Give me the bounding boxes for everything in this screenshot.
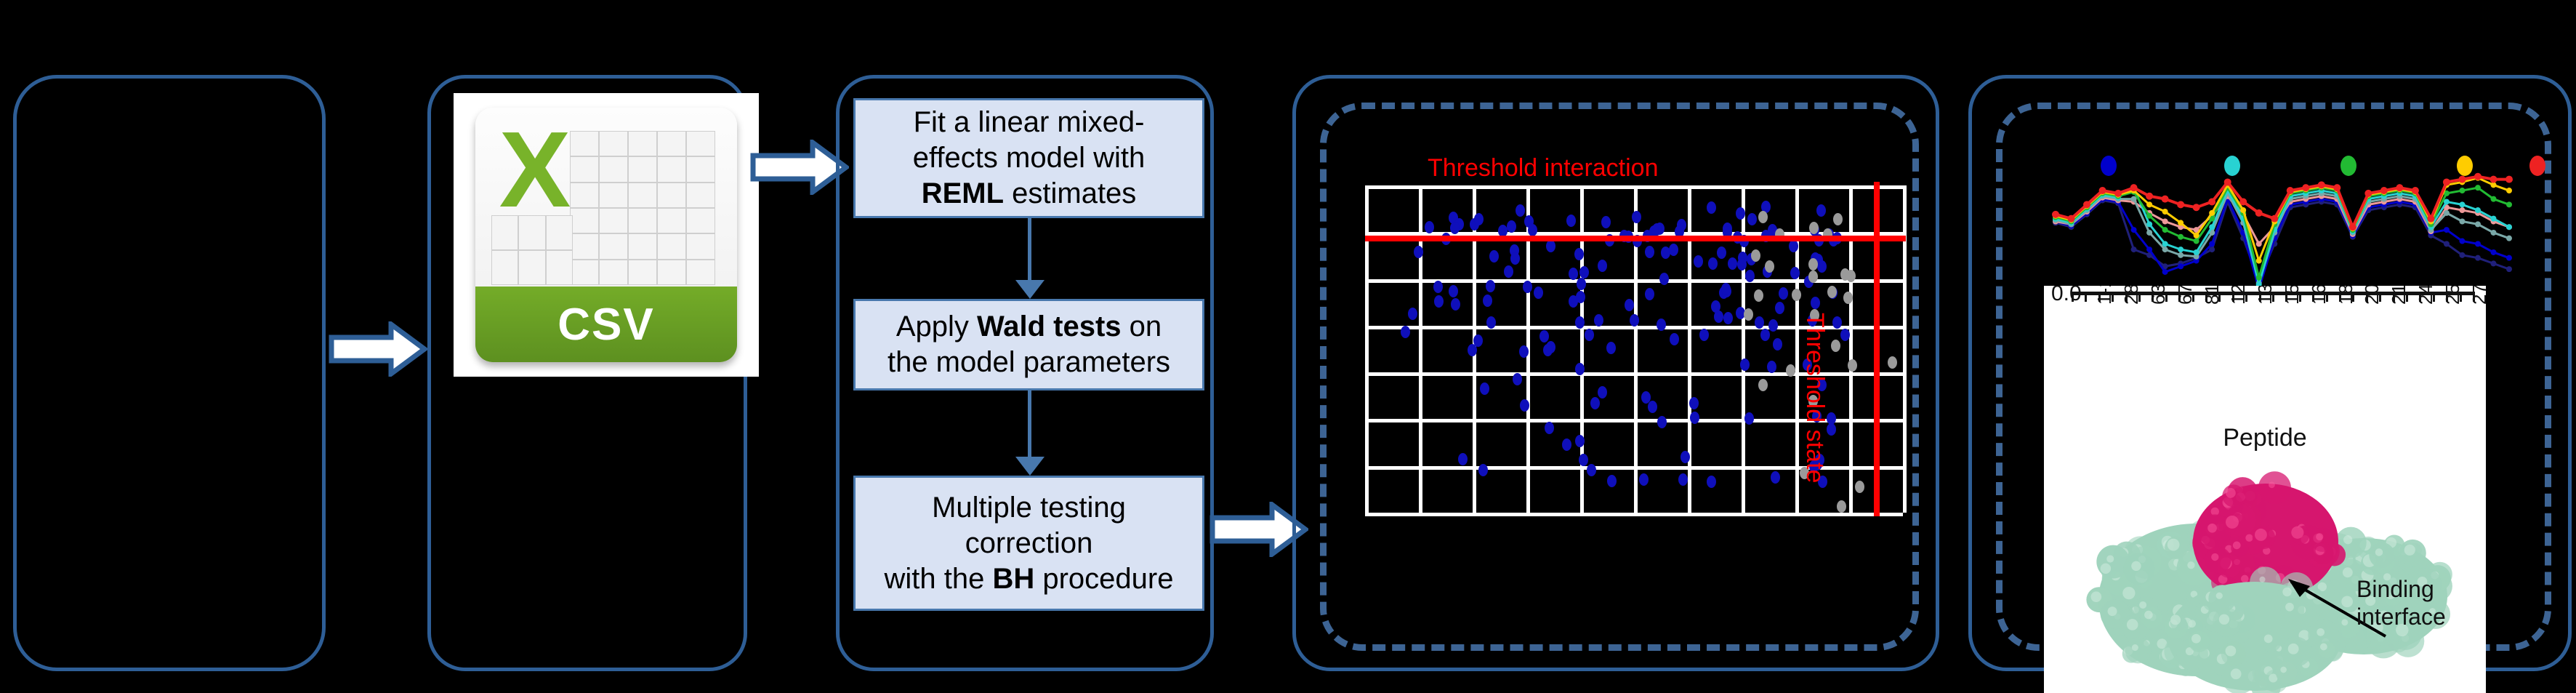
peptide-series-marker — [2333, 184, 2340, 191]
scatter-point-significant — [1669, 244, 1678, 256]
peptide-series-marker — [2162, 269, 2168, 275]
peptide-tick-label: 135-144 — [2254, 286, 2277, 305]
peptide-series-marker — [2412, 187, 2419, 194]
peptide-series-marker — [2302, 184, 2309, 191]
legend-dot — [2529, 156, 2545, 176]
csv-grid-cell — [599, 208, 628, 233]
csv-grid-cell — [628, 183, 657, 208]
peptide-series-marker — [2256, 241, 2262, 247]
scatter-point-significant — [1670, 333, 1679, 345]
peptide-tick-label: 241-257 — [2415, 286, 2437, 305]
scatter-point-significant — [1645, 246, 1654, 258]
scatter-point-significant — [1745, 270, 1755, 282]
csv-grid-cell — [570, 233, 599, 259]
scatter-point-nonsignificant — [1765, 260, 1774, 273]
flow3-pre: with the — [885, 563, 993, 595]
flow2-line2: the model parameters — [887, 346, 1170, 378]
peptide-series-marker — [2146, 221, 2152, 227]
scatter-point-nonsignificant — [1809, 222, 1819, 234]
legend-dot — [2101, 156, 2117, 176]
peptide-series-marker — [2506, 224, 2512, 230]
scatter-point-significant — [1513, 373, 1522, 385]
scatter-point-significant — [1474, 213, 1484, 225]
peptide-series-marker — [2239, 198, 2247, 205]
csv-file-icon: X CSV — [454, 93, 759, 377]
csv-format-label: CSV — [475, 287, 737, 362]
scatter-point-significant — [1744, 412, 1754, 425]
scatter-point-significant — [1641, 391, 1651, 404]
peptide-series-marker — [2505, 176, 2513, 183]
peptide-series-marker — [2459, 188, 2465, 193]
legend-dot — [2457, 156, 2473, 176]
csv-grid-cell — [657, 208, 686, 233]
csv-grid-cell — [518, 250, 545, 285]
csv-grid-cell — [686, 156, 715, 182]
flow3-line1: Multiple testing — [932, 492, 1126, 524]
step-box-reml: Fit a linear mixed- effects model with R… — [853, 98, 1204, 218]
peptide-series-marker — [2396, 184, 2403, 191]
csv-grid-cell — [686, 131, 715, 156]
peptide-series-marker — [2131, 247, 2137, 252]
peptide-series-marker — [2052, 211, 2059, 218]
peptide-series-marker — [2068, 215, 2075, 223]
scatter-point-significant — [1768, 319, 1778, 332]
scatter-point-significant — [1575, 316, 1585, 329]
peptide-series-marker — [2506, 266, 2512, 272]
peptide-tick-label: 200-214 — [2361, 286, 2383, 305]
scatter-point-nonsignificant — [1837, 500, 1846, 513]
flow-arrow-1 — [329, 321, 427, 377]
threshold-state-line — [1874, 182, 1880, 516]
scatter-point-significant — [1594, 314, 1603, 327]
scatter-point-significant — [1755, 316, 1764, 329]
scatter-point-significant — [1699, 329, 1709, 341]
peptide-series-marker — [2475, 207, 2481, 213]
scatter-point-significant — [1775, 302, 1784, 314]
scatter-point-significant — [1607, 475, 1617, 487]
scatter-point-significant — [1767, 361, 1776, 373]
peptide-series-marker — [2256, 258, 2262, 264]
peptide-series-marker — [2146, 193, 2153, 200]
legend-dot — [2340, 156, 2356, 176]
peptide-series-marker — [2209, 241, 2215, 247]
scatter-point-significant — [1657, 416, 1667, 428]
scatter-point-significant — [1708, 257, 1718, 270]
peptide-tick-label: 67-75 — [2174, 286, 2197, 305]
scatter-point-significant — [1577, 278, 1586, 290]
scatter-point-significant — [1433, 281, 1443, 293]
peptide-series-marker — [2224, 178, 2231, 185]
flow2-bold: Wald tests — [977, 311, 1122, 343]
csv-grid-cell — [686, 183, 715, 208]
flow2-pre: Apply — [896, 311, 977, 343]
scatter-point-nonsignificant — [1843, 292, 1853, 304]
csv-grid-cell — [546, 250, 573, 285]
scatter-point-significant — [1811, 297, 1820, 309]
peptide-series-marker — [2506, 201, 2512, 207]
scatter-point-nonsignificant — [1808, 271, 1818, 283]
scatter-point-nonsignificant — [1751, 249, 1760, 262]
csv-grid-cell — [686, 233, 715, 259]
scatter-point-significant — [1489, 250, 1499, 263]
peptide-series-marker — [2178, 263, 2183, 269]
scatter-point-significant — [1817, 260, 1827, 273]
excel-x-glyph: X — [491, 119, 579, 221]
peptide-series-marker — [2177, 201, 2184, 208]
scatter-point-nonsignificant — [1758, 379, 1768, 391]
csv-grid-cell — [599, 183, 628, 208]
scatter-point-significant — [1478, 464, 1488, 476]
peptide-tick-label: 218-237 — [2388, 286, 2410, 305]
scatter-point-significant — [1510, 252, 1520, 265]
peptide-series-marker — [2458, 176, 2466, 183]
csv-grid-cell — [570, 183, 599, 208]
csv-grid-cell — [686, 260, 715, 285]
scatter-point-significant — [1711, 300, 1720, 313]
scatter-point-significant — [1486, 316, 1496, 329]
scatter-point-nonsignificant — [1758, 211, 1768, 223]
scatter-point-significant — [1747, 213, 1757, 225]
peptide-series-marker — [2208, 198, 2215, 205]
peptide-tick-label: 167-180 — [2308, 286, 2330, 305]
peptide-series-marker — [2162, 227, 2168, 233]
scatter-point-significant — [1520, 399, 1529, 412]
csv-spreadsheet-grid-lower — [491, 215, 573, 285]
scatter-point-significant — [1408, 308, 1417, 320]
scatter-point-significant — [1575, 363, 1585, 375]
scatter-point-significant — [1539, 330, 1549, 343]
peptide-tick-label: 184-199 — [2335, 286, 2357, 305]
scatter-point-significant — [1771, 471, 1780, 484]
peptide-series-marker — [2459, 207, 2465, 213]
scatter-point-significant — [1707, 201, 1716, 214]
peptide-axis-tick — [2085, 292, 2087, 302]
peptide-series-marker — [2162, 241, 2168, 247]
peptide-series-marker — [2459, 201, 2465, 207]
scatter-point-significant — [1507, 220, 1516, 233]
csv-grid-cell — [599, 131, 628, 156]
scatter-point-significant — [1451, 298, 1460, 311]
peptide-series-marker — [2490, 249, 2496, 255]
scatter-point-significant — [1723, 312, 1733, 324]
scatter-point-significant — [1632, 211, 1641, 223]
binding-annotation-line2: interface — [2356, 603, 2446, 630]
scatter-point-significant — [1773, 338, 1782, 350]
scatter-point-significant — [1645, 288, 1654, 300]
peptide-series-marker — [2427, 215, 2434, 223]
peptide-series-marker — [2131, 227, 2137, 233]
scatter-point-significant — [1657, 319, 1666, 331]
peptide-series-marker — [2130, 184, 2138, 191]
peptide-series-marker — [2209, 210, 2215, 216]
csv-grid-cell — [628, 208, 657, 233]
scatter-point-significant — [1576, 291, 1585, 303]
scatter-point-significant — [1737, 258, 1747, 271]
peptide-axis-tick — [2072, 292, 2074, 302]
peptide-series-marker — [2444, 241, 2450, 247]
peptide-series-marker — [2349, 223, 2356, 231]
scatter-point-significant — [1598, 386, 1607, 398]
peptide-series-marker — [2146, 230, 2152, 236]
peptide-series-marker — [2475, 255, 2481, 261]
peptide-series-marker — [2178, 220, 2183, 225]
threshold-interaction-line — [1365, 236, 1906, 241]
peptide-series-marker — [2380, 187, 2388, 194]
scatter-point-significant — [1480, 382, 1489, 395]
scatter-point-significant — [1678, 473, 1688, 486]
scatter-point-significant — [1681, 451, 1690, 463]
threshold-interaction-label: Threshold interaction — [1428, 154, 1659, 183]
csv-grid-cell — [686, 208, 715, 233]
scatter-point-significant — [1601, 216, 1611, 228]
binding-annotation-line1: Binding — [2356, 575, 2434, 603]
peptide-series-marker — [2194, 249, 2199, 255]
csv-grid-cell — [599, 156, 628, 182]
flow1-line1: Fit a linear mixed- — [914, 106, 1145, 138]
flow2-post: on — [1122, 311, 1162, 343]
scatter-point-significant — [1587, 464, 1596, 476]
scatter-point-significant — [1528, 224, 1537, 236]
peptide-series-marker — [2490, 230, 2496, 236]
scatter-point-nonsignificant — [1808, 258, 1818, 271]
peptide-tick-label: 1-15 — [2093, 286, 2116, 305]
scatter-point-significant — [1779, 287, 1788, 300]
peptide-axis-title: Peptide — [2044, 424, 2486, 452]
scatter-point-significant — [1760, 329, 1770, 341]
peptide-series-marker — [2490, 260, 2496, 266]
scatter-point-significant — [1519, 345, 1529, 358]
peptide-series-marker — [2506, 236, 2512, 241]
csv-spreadsheet-grid — [570, 131, 715, 285]
scatter-point-significant — [1534, 287, 1543, 299]
flow1-line2: effects model with — [913, 142, 1145, 174]
scatter-point-significant — [1562, 438, 1571, 451]
scatter-vgridline — [1903, 185, 1907, 513]
csv-grid-cell — [546, 215, 573, 250]
scatter-point-significant — [1630, 314, 1639, 327]
peptide-tick-label: 63-73 — [2147, 286, 2170, 305]
peptide-profile-chart — [2035, 145, 2515, 295]
scatter-point-significant — [1740, 358, 1750, 371]
peptide-series-marker — [2318, 181, 2325, 188]
scatter-point-significant — [1789, 240, 1798, 252]
csv-grid-cell — [599, 233, 628, 259]
scatter-point-significant — [1425, 221, 1434, 233]
scatter-point-significant — [1689, 397, 1699, 409]
scatter-point-nonsignificant — [1792, 289, 1801, 301]
scatter-point-significant — [1486, 280, 1495, 292]
peptide-series-marker — [2506, 188, 2512, 193]
scatter-point-significant — [1545, 422, 1554, 434]
flow-connector-arrowhead-1 — [1015, 280, 1045, 299]
peptide-series-marker — [2162, 219, 2168, 225]
peptide-series-marker — [2146, 201, 2152, 207]
scatter-point-significant — [1449, 285, 1458, 297]
scatter-point-significant — [1504, 265, 1513, 278]
flow-connector-arrowhead-2 — [1015, 457, 1045, 476]
peptide-series-marker — [2475, 241, 2481, 247]
peptide-series-marker — [2193, 204, 2200, 211]
peptide-tick-label: 158-166 — [2281, 286, 2303, 305]
scatter-point-significant — [1659, 273, 1669, 285]
peptide-series-marker — [2475, 221, 2481, 227]
peptide-tick-label: 277-284 — [2468, 286, 2486, 305]
scatter-point-significant — [1790, 267, 1800, 279]
scatter-point-significant — [1458, 453, 1468, 465]
scatter-point-nonsignificant — [1786, 364, 1795, 377]
protein-structure-image — [2073, 454, 2480, 693]
peptide-series-marker — [2271, 215, 2278, 223]
scatter-point-significant — [1598, 260, 1607, 272]
scatter-point-nonsignificant — [1827, 286, 1837, 298]
peptide-series-marker — [2506, 255, 2512, 261]
csv-grid-cell — [570, 208, 599, 233]
scatter-point-significant — [1523, 281, 1532, 293]
scatter-point-significant — [1721, 283, 1731, 295]
scatter-point-significant — [1590, 397, 1600, 409]
peptide-series-marker — [2459, 219, 2465, 225]
peptide-series-marker — [2162, 209, 2168, 215]
csv-card: X CSV — [475, 108, 737, 362]
scatter-point-nonsignificant — [1855, 481, 1864, 493]
scatter-point-significant — [1569, 268, 1578, 280]
scatter-point-significant — [1585, 329, 1594, 341]
peptide-series-marker — [2209, 224, 2215, 230]
peptide-axis-and-structure-box: 0.0 Peptide Binding interface 1-1528-446… — [2044, 286, 2486, 693]
y-tick-label-zero: 0.0 — [2051, 286, 2082, 306]
legend-dot — [2224, 156, 2240, 176]
peptide-series-marker — [2162, 247, 2168, 252]
scatter-point-significant — [1707, 476, 1716, 488]
peptide-series-marker — [2459, 239, 2465, 244]
csv-grid-cell — [491, 215, 518, 250]
scatter-point-significant — [1840, 329, 1850, 341]
scatter-point-significant — [1728, 257, 1737, 270]
scatter-point-nonsignificant — [1888, 356, 1897, 369]
peptide-series-marker — [2146, 213, 2152, 219]
scatter-point-significant — [1473, 335, 1483, 347]
peptide-series-marker — [2178, 252, 2183, 258]
peptide-series-marker — [2099, 187, 2106, 194]
flow-arrow-2 — [750, 140, 849, 195]
peptide-series-marker — [2459, 252, 2465, 258]
scatter-hgridline — [1365, 279, 1903, 283]
threshold-state-label: Threshold state — [1800, 313, 1829, 483]
peptide-series-marker — [2490, 216, 2496, 222]
peptide-tick-label: 28-44 — [2120, 286, 2143, 305]
peptide-series-marker — [2444, 210, 2450, 216]
scatter-point-significant — [1639, 473, 1649, 486]
step-box-wald: Apply Wald tests on the model parameters — [853, 299, 1204, 390]
scatter-point-significant — [1625, 299, 1634, 311]
scatter-point-significant — [1717, 247, 1726, 259]
scatter-point-significant — [1579, 454, 1588, 466]
csv-grid-cell — [628, 233, 657, 259]
csv-grid-cell — [628, 260, 657, 285]
peptide-series-marker — [2255, 209, 2263, 217]
scatter-point-significant — [1566, 215, 1576, 227]
scatter-point-nonsignificant — [1831, 340, 1840, 352]
peptide-series-marker — [2194, 239, 2199, 244]
scatter-point-significant — [1546, 240, 1555, 252]
scatter-point-significant — [1648, 401, 1657, 413]
scatter-hgridline — [1365, 513, 1903, 516]
csv-grid-cell — [657, 131, 686, 156]
csv-grid-cell — [570, 156, 599, 182]
peptide-tick-label: 122-129 — [2227, 286, 2250, 305]
peptide-series-marker — [2114, 190, 2122, 197]
peptide-series-marker — [2240, 207, 2246, 213]
peptide-series-marker — [2490, 176, 2497, 183]
scatter-hgridline — [1365, 185, 1903, 189]
peptide-series-marker — [2194, 233, 2199, 239]
scatter-point-significant — [1414, 246, 1423, 258]
csv-grid-cell — [657, 156, 686, 182]
csv-grid-cell — [657, 260, 686, 285]
peptide-series-marker — [2364, 190, 2372, 197]
peptide-series-marker — [2287, 187, 2294, 194]
scatter-point-nonsignificant — [1833, 213, 1843, 225]
flow3-line2: correction — [965, 527, 1093, 559]
peptide-series-marker — [2178, 247, 2183, 252]
flow3-bold: BH — [992, 563, 1034, 595]
flow-connector-1 — [1028, 218, 1031, 282]
csv-grid-cell — [657, 233, 686, 259]
scatter-point-significant — [1483, 295, 1492, 307]
scatter-point-nonsignificant — [1754, 289, 1763, 302]
flow1-line3: estimates — [1004, 177, 1136, 209]
peptide-series-marker — [2444, 227, 2450, 233]
flow1-bold: REML — [922, 177, 1004, 209]
peptide-series-marker — [2083, 201, 2090, 208]
peptide-series-marker — [2474, 173, 2482, 180]
peptide-series-marker — [2475, 185, 2481, 191]
scatter-point-significant — [1575, 435, 1585, 447]
scatter-point-significant — [1543, 344, 1553, 356]
peptide-series-marker — [2162, 196, 2169, 203]
flow3-post: procedure — [1034, 563, 1173, 595]
csv-grid-cell — [518, 215, 545, 250]
csv-grid-cell — [628, 156, 657, 182]
scatter-point-significant — [1736, 207, 1745, 220]
scatter-point-significant — [1832, 316, 1842, 329]
step-box-bh: Multiple testing correction with the BH … — [853, 476, 1204, 611]
csv-grid-cell — [599, 260, 628, 285]
scatter-point-significant — [1450, 222, 1460, 234]
flow-connector-2 — [1028, 390, 1031, 459]
peptide-series-marker — [2256, 275, 2262, 281]
csv-grid-cell — [628, 131, 657, 156]
csv-grid-cell — [570, 260, 599, 285]
scatter-point-nonsignificant — [1848, 359, 1857, 372]
scatter-point-nonsignificant — [1840, 268, 1850, 281]
csv-grid-cell — [491, 250, 518, 285]
csv-grid-cell — [570, 131, 599, 156]
scatter-point-nonsignificant — [1744, 308, 1753, 321]
peptide-series-marker — [2146, 247, 2152, 252]
scatter-point-significant — [1606, 342, 1616, 354]
figure-canvas: X CSV Fit a linear mixed- effects model … — [0, 0, 2576, 687]
csv-grid-cell — [657, 183, 686, 208]
peptide-series-marker — [2443, 178, 2450, 185]
peptide-tick-label: 258-266 — [2442, 286, 2464, 305]
scatter-point-significant — [1401, 326, 1410, 338]
peptide-tick-label: 81-101 — [2201, 286, 2223, 305]
peptide-series-marker — [2490, 196, 2496, 202]
scatter-point-significant — [1434, 295, 1444, 308]
scatter-point-significant — [1694, 255, 1703, 268]
scatter-point-significant — [1516, 204, 1525, 217]
